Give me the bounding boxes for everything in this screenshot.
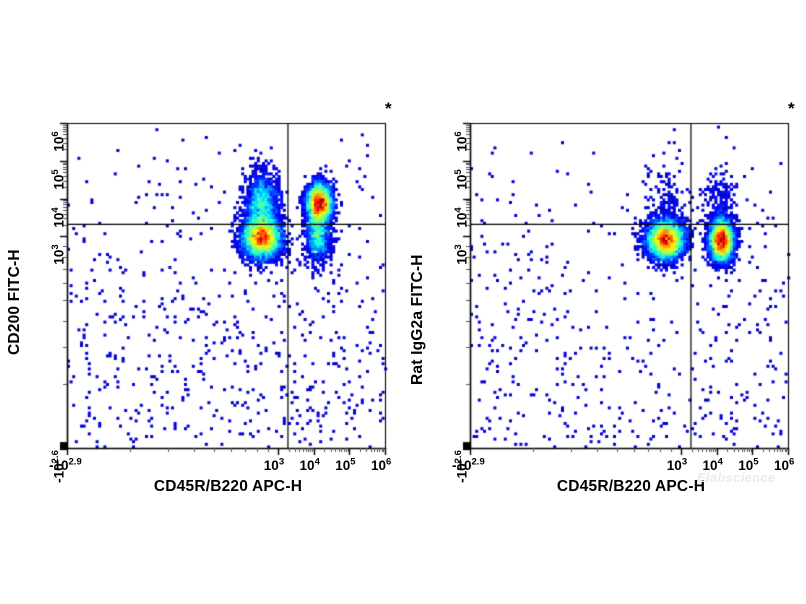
x-tick-label-4: 106 [371, 458, 391, 473]
y-tick-label-1: 103 [52, 237, 67, 273]
significance-asterisk-left: * [385, 100, 392, 117]
y-tick-label-0: -102.6 [455, 449, 470, 485]
y-axis-label-left: CD200 FITC-H [6, 249, 24, 355]
y-tick-label-3: 105 [52, 161, 67, 197]
x-tick-label-1: 103 [264, 458, 284, 473]
y-tick-label-4: 106 [52, 124, 67, 160]
scatter-panel-right: * Rat IgG2a FITC-H CD45R/B220 APC-H Elab… [403, 0, 806, 604]
y-axis-label-right: Rat IgG2a FITC-H [409, 254, 427, 385]
x-tick-label-4: 106 [774, 458, 794, 473]
x-tick-label-1: 103 [667, 458, 687, 473]
x-tick-label-2: 104 [703, 458, 723, 473]
x-tick-label-2: 104 [300, 458, 320, 473]
y-tick-label-0: -102.6 [52, 449, 67, 485]
y-tick-label-3: 105 [455, 161, 470, 197]
scatter-panel-left: * CD200 FITC-H CD45R/B220 APC-H -102.910… [0, 0, 403, 604]
x-tick-label-3: 105 [335, 458, 355, 473]
y-tick-label-2: 104 [52, 199, 67, 235]
y-tick-label-1: 103 [455, 237, 470, 273]
significance-asterisk-right: * [788, 100, 795, 117]
x-tick-label-3: 105 [738, 458, 758, 473]
scatter-plot-canvas-left [0, 0, 403, 604]
y-tick-label-4: 106 [455, 124, 470, 160]
x-axis-label-left: CD45R/B220 APC-H [68, 478, 388, 496]
scatter-plot-canvas-right [403, 0, 806, 604]
y-tick-label-2: 104 [455, 199, 470, 235]
